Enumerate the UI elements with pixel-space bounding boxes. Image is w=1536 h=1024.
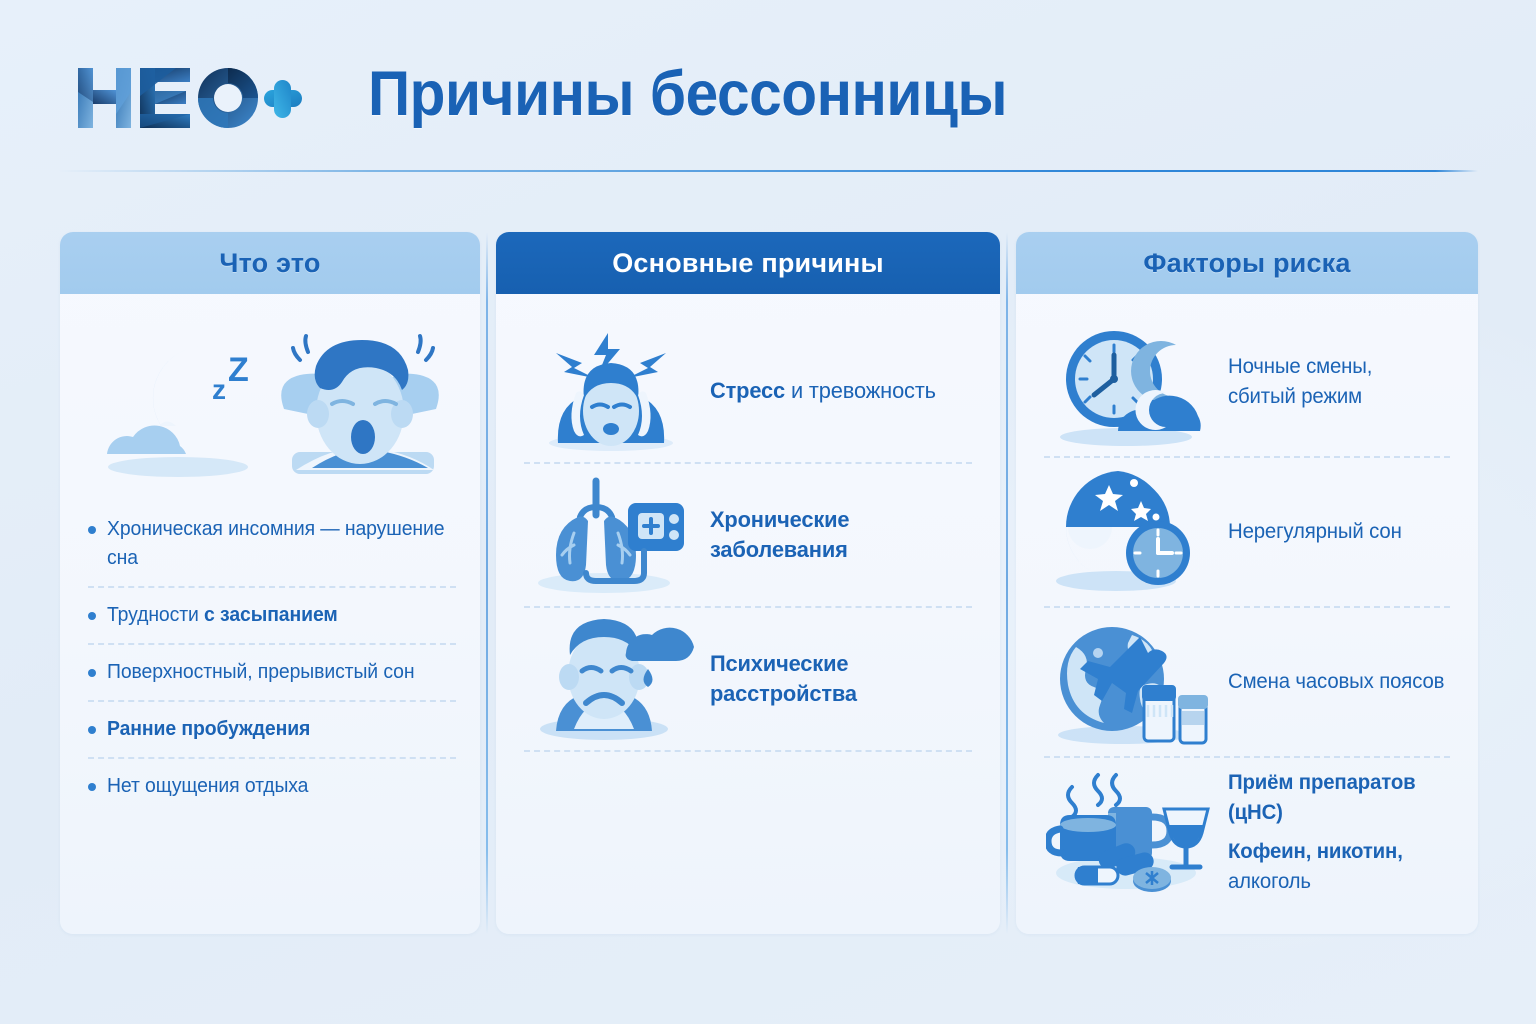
- list-item: Ночные смены, сбитый режим: [1016, 308, 1478, 456]
- list-item: Приём препаратов (цНС) Кофеин, никотин, …: [1016, 758, 1478, 906]
- list-item: Нет ощущения отдыха: [60, 759, 480, 814]
- page-header: Причины бессонницы: [0, 0, 1536, 172]
- bullet-dot-icon: [88, 612, 96, 620]
- card-body-risk-factors: Ночные смены, сбитый режим: [1016, 294, 1478, 934]
- card-what-is-it: Что это z Z: [60, 232, 480, 934]
- sleeping-person-icon: [281, 336, 439, 474]
- card-body-what-is-it: z Z: [60, 294, 480, 934]
- bullet-dot-icon: [88, 526, 96, 534]
- header-divider: [58, 170, 1478, 172]
- stressed-head-lightning-icon: [526, 327, 696, 455]
- list-item: Смена часовых поясов: [1016, 608, 1478, 756]
- list-item: Ранние пробуждения: [60, 702, 480, 757]
- bullet-dot-icon: [88, 669, 96, 677]
- list-item-label: Поверхностный, прерывистый сон: [107, 658, 414, 687]
- list-item: Стресс и тревожность: [496, 320, 1000, 462]
- list-item-label: Нет ощущения отдыха: [107, 772, 308, 801]
- list-item: Трудности с засыпанием: [60, 588, 480, 643]
- crescent-moon-zzz-icon: z Z: [107, 346, 249, 477]
- list-item-label: Трудности с засыпанием: [107, 601, 338, 630]
- coffee-wine-pills-icon: [1046, 767, 1214, 897]
- svg-text:z: z: [212, 374, 226, 405]
- card-header-main-causes: Основные причины: [496, 232, 1000, 294]
- page-title: Причины бессонницы: [368, 55, 1007, 133]
- list-item-label: Хроническая инсомния — нарушение сна: [107, 515, 446, 573]
- card-main-causes: Основные причины: [496, 232, 1000, 934]
- list-item: Хроническая инсомния — нарушение сна: [60, 502, 480, 586]
- lungs-blood-pressure-monitor-icon: [526, 471, 696, 599]
- list-item-label: Приём препаратов (цНС) Кофеин, никотин, …: [1228, 768, 1445, 897]
- moon-stars-clock-icon: [1046, 467, 1214, 597]
- clock-moon-cloud-icon: [1046, 317, 1214, 447]
- neo-plus-logo: [72, 62, 302, 134]
- columns-container: Что это z Z: [0, 232, 1536, 934]
- sad-person-rain-cloud-icon: [526, 615, 696, 743]
- card-header-risk-factors: Факторы риска: [1016, 232, 1478, 294]
- list-item: Нерегулярный сон: [1016, 458, 1478, 606]
- card-header-what-is-it: Что это: [60, 232, 480, 294]
- definition-bullet-list: Хроническая инсомния — нарушение сна Тру…: [60, 502, 480, 814]
- bullet-dot-icon: [88, 726, 96, 734]
- list-item-label: Ночные смены, сбитый режим: [1228, 352, 1372, 412]
- list-item-label: Нерегулярный сон: [1228, 517, 1402, 547]
- list-item: Поверхностный, прерывистый сон: [60, 645, 480, 700]
- bullet-dot-icon: [88, 783, 96, 791]
- list-item-label: Стресс и тревожность: [710, 376, 936, 406]
- list-item-label: Смена часовых поясов: [1228, 667, 1444, 697]
- card-body-main-causes: Стресс и тревожность: [496, 294, 1000, 934]
- svg-text:Z: Z: [228, 351, 249, 389]
- globe-airplane-pills-icon: [1046, 617, 1214, 747]
- card-risk-factors: Факторы риска: [1016, 232, 1478, 934]
- column-divider-2: [1006, 232, 1008, 934]
- list-item-label: Ранние пробуждения: [107, 715, 310, 744]
- list-item: Психические расстройства: [496, 608, 1000, 750]
- column-divider-1: [486, 232, 488, 934]
- list-separator: [524, 750, 972, 752]
- hero-illustration: z Z: [60, 304, 480, 494]
- list-item-label: Хронические заболевания: [710, 505, 966, 565]
- list-item-label: Психические расстройства: [710, 649, 966, 709]
- list-item: Хронические заболевания: [496, 464, 1000, 606]
